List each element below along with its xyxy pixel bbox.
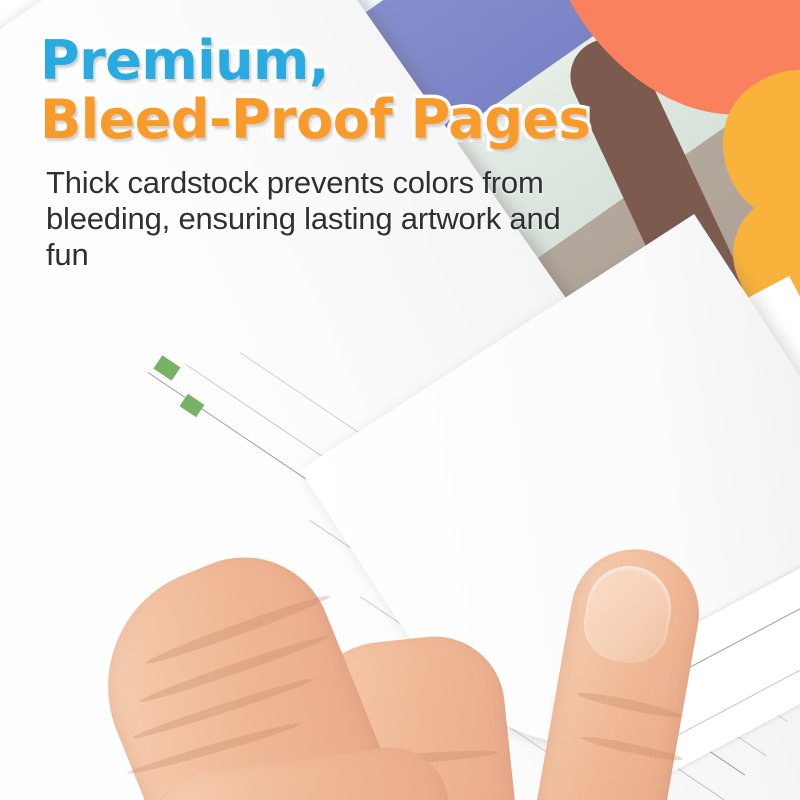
page-title: Premium, Bleed-Proof Pages bbox=[40, 34, 740, 147]
product-photo-scene: Premium, Bleed-Proof Pages Thick cardsto… bbox=[0, 0, 800, 800]
title-line-1: Premium, bbox=[40, 34, 740, 87]
marketing-copy: Premium, Bleed-Proof Pages Thick cardsto… bbox=[40, 34, 740, 273]
subtitle-text: Thick cardstock prevents colors from ble… bbox=[46, 165, 566, 273]
title-line-2: Bleed-Proof Pages bbox=[40, 93, 740, 146]
